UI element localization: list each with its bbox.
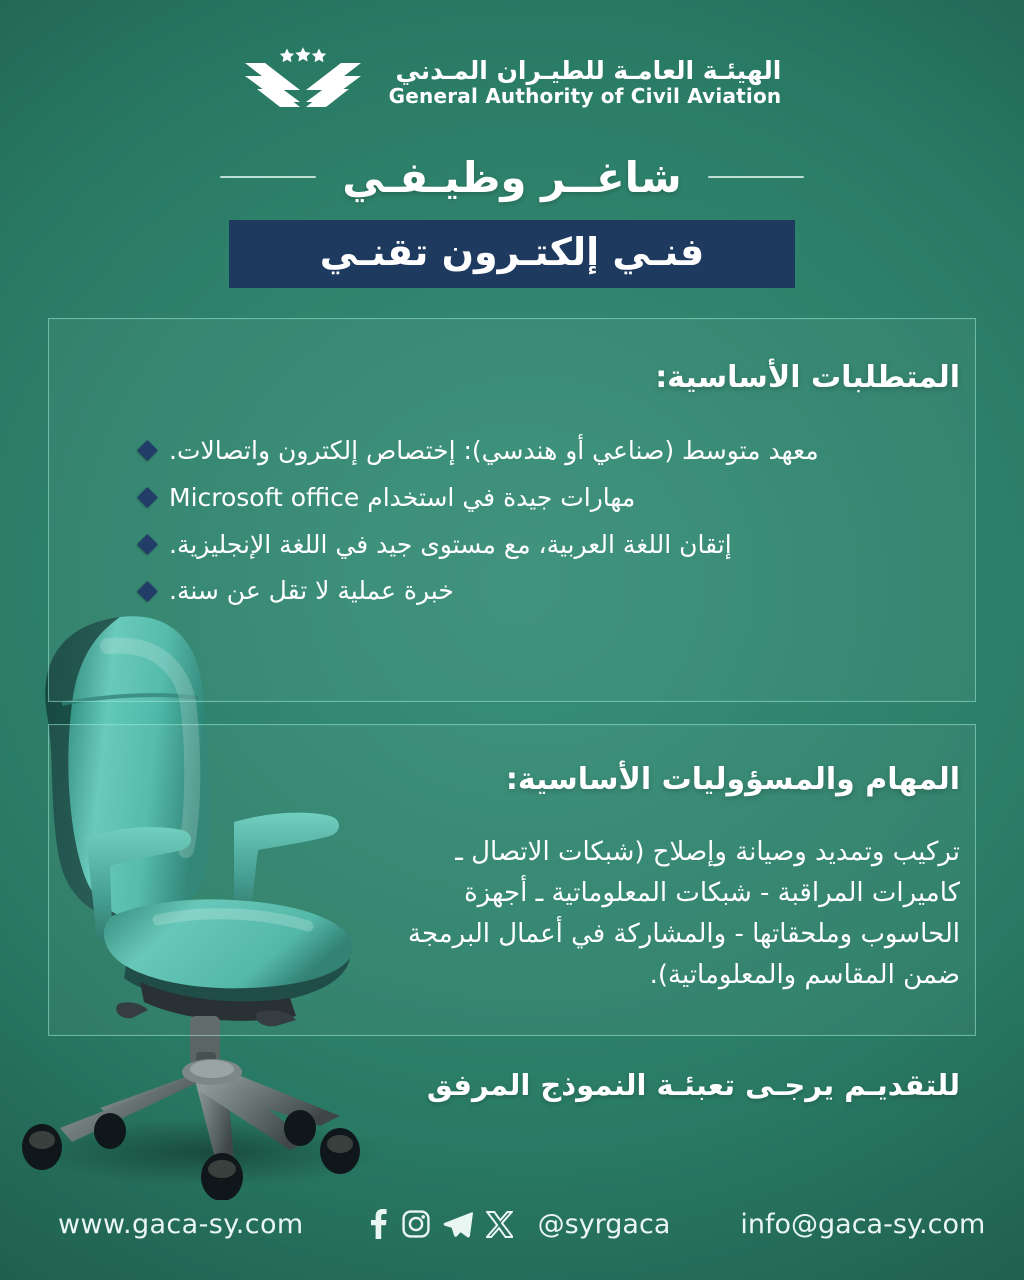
diamond-bullet-icon	[137, 440, 158, 461]
poster-footer: www.gaca-sy.com	[0, 1196, 1024, 1252]
apply-instruction-text: للتقديـم يرجـى تعبئـة النموذج المرفق	[427, 1068, 960, 1102]
requirements-heading: المتطلبات الأساسية:	[655, 360, 960, 395]
list-item: مهارات جيدة في استخدام Microsoft office	[140, 481, 635, 515]
poster-header: الهيئـة العامـة للطيـران المـدني General…	[0, 42, 1024, 122]
website-link[interactable]: www.gaca-sy.com	[58, 1209, 304, 1240]
organization-name-english: General Authority of Civil Aviation	[389, 85, 782, 107]
poster-canvas: الهيئـة العامـة للطيـران المـدني General…	[0, 0, 1024, 1280]
facebook-icon[interactable]	[366, 1209, 389, 1239]
x-twitter-icon[interactable]	[486, 1211, 513, 1238]
requirement-text: إتقان اللغة العربية، مع مستوى جيد في الل…	[169, 528, 732, 562]
vacancy-eyebrow-text: شاغــر وظيـفـي	[342, 153, 681, 202]
job-title-text: فنـي إلكتـرون تقنـي	[281, 231, 743, 275]
diamond-bullet-icon	[137, 581, 158, 602]
duties-heading: المهام والمسؤوليات الأساسية:	[506, 762, 960, 797]
list-item: معهد متوسط (صناعي أو هندسي): إختصاص إلكت…	[140, 434, 819, 468]
telegram-icon[interactable]	[443, 1210, 473, 1238]
requirement-text: خبرة عملية لا تقل عن سنة.	[169, 574, 454, 608]
organization-name-arabic: الهيئـة العامـة للطيـران المـدني	[389, 57, 782, 85]
social-handle[interactable]: @syrgaca	[538, 1209, 671, 1240]
organization-name-block: الهيئـة العامـة للطيـران المـدني General…	[389, 57, 782, 107]
diamond-bullet-icon	[137, 487, 158, 508]
email-link[interactable]: info@gaca-sy.com	[740, 1209, 985, 1240]
title-rule-left	[708, 176, 804, 178]
requirements-list: معهد متوسط (صناعي أو هندسي): إختصاص إلكت…	[140, 434, 960, 608]
instagram-icon[interactable]	[402, 1210, 430, 1238]
social-icons-group: @syrgaca	[366, 1209, 671, 1240]
vacancy-eyebrow-row: شاغــر وظيـفـي	[0, 148, 1024, 206]
gaca-wings-stars-logo-icon	[243, 44, 363, 120]
list-item: إتقان اللغة العربية، مع مستوى جيد في الل…	[140, 528, 732, 562]
duties-body-text: تركيب وتمديد وصيانة وإصلاح (شبكات الاتصا…	[368, 832, 960, 996]
requirement-text: مهارات جيدة في استخدام Microsoft office	[169, 481, 635, 515]
job-title-banner: فنـي إلكتـرون تقنـي	[229, 220, 795, 288]
list-item: خبرة عملية لا تقل عن سنة.	[140, 574, 454, 608]
title-block: شاغــر وظيـفـي فنـي إلكتـرون تقنـي	[0, 148, 1024, 288]
requirement-text: معهد متوسط (صناعي أو هندسي): إختصاص إلكت…	[169, 434, 819, 468]
title-rule-right	[220, 176, 316, 178]
diamond-bullet-icon	[137, 534, 158, 555]
